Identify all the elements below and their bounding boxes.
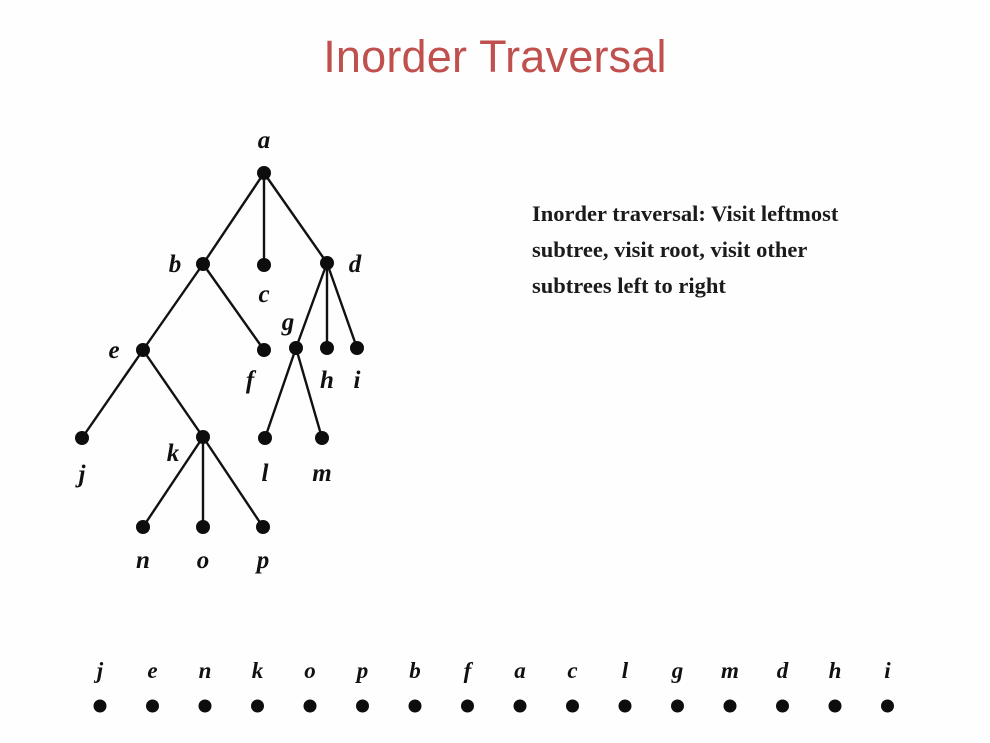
sequence-label-b: b bbox=[409, 658, 421, 683]
sequence-item-h[interactable]: h bbox=[829, 658, 842, 713]
sequence-label-h: h bbox=[829, 658, 842, 683]
sequence-item-j[interactable]: j bbox=[93, 658, 107, 713]
sequence-dot-b[interactable] bbox=[409, 700, 422, 713]
tree-node-a[interactable]: a bbox=[257, 127, 271, 180]
sequence-dot-d[interactable] bbox=[776, 700, 789, 713]
sequence-dot-e[interactable] bbox=[146, 700, 159, 713]
sequence-item-g[interactable]: g bbox=[671, 658, 684, 713]
tree-node-o[interactable]: o bbox=[196, 520, 210, 574]
tree-edge-g-m bbox=[296, 348, 322, 438]
tree-node-label-f: f bbox=[246, 367, 257, 394]
sequence-item-a[interactable]: a bbox=[514, 658, 527, 713]
tree-node-c[interactable]: c bbox=[257, 258, 271, 308]
sequence-dot-o[interactable] bbox=[304, 700, 317, 713]
tree-node-dot-k[interactable] bbox=[196, 430, 210, 444]
sequence-item-i[interactable]: i bbox=[881, 658, 894, 713]
tree-node-label-o: o bbox=[197, 547, 210, 574]
sequence-item-d[interactable]: d bbox=[776, 658, 789, 713]
sequence-label-g: g bbox=[671, 658, 684, 683]
tree-node-b[interactable]: b bbox=[169, 251, 210, 278]
sequence-label-m: m bbox=[721, 658, 739, 683]
tree-edge-a-b bbox=[203, 173, 264, 264]
sequence-label-e: e bbox=[147, 658, 157, 683]
sequence-dot-h[interactable] bbox=[829, 700, 842, 713]
sequence-item-b[interactable]: b bbox=[409, 658, 422, 713]
sequence-label-o: o bbox=[304, 658, 316, 683]
tree-node-dot-i[interactable] bbox=[350, 341, 364, 355]
tree-edge-a-d bbox=[264, 173, 327, 263]
sequence-label-p: p bbox=[355, 658, 369, 683]
sequence-item-o[interactable]: o bbox=[304, 658, 317, 713]
sequence-dot-l[interactable] bbox=[619, 700, 632, 713]
sequence-label-n: n bbox=[199, 658, 212, 683]
tree-node-label-j: j bbox=[75, 461, 87, 488]
tree-node-dot-p[interactable] bbox=[256, 520, 270, 534]
sequence-item-c[interactable]: c bbox=[566, 658, 579, 713]
sequence-dot-c[interactable] bbox=[566, 700, 579, 713]
sequence-label-j: j bbox=[93, 658, 104, 683]
tree-node-f[interactable]: f bbox=[246, 343, 271, 394]
tree-node-dot-j[interactable] bbox=[75, 431, 89, 445]
sequence-dot-m[interactable] bbox=[724, 700, 737, 713]
tree-node-dot-d[interactable] bbox=[320, 256, 334, 270]
sequence-dot-a[interactable] bbox=[514, 700, 527, 713]
tree-node-n[interactable]: n bbox=[136, 520, 150, 574]
sequence-dot-f[interactable] bbox=[461, 700, 474, 713]
tree-node-g[interactable]: g bbox=[281, 309, 303, 355]
sequence-label-k: k bbox=[252, 658, 264, 683]
sequence-item-e[interactable]: e bbox=[146, 658, 159, 713]
tree-node-label-i: i bbox=[354, 367, 361, 394]
tree-node-dot-m[interactable] bbox=[315, 431, 329, 445]
sequence-dot-p[interactable] bbox=[356, 700, 369, 713]
sequence-item-k[interactable]: k bbox=[251, 658, 264, 713]
tree-edge-k-p bbox=[203, 437, 263, 527]
tree-edge-d-g bbox=[296, 263, 327, 348]
tree-node-h[interactable]: h bbox=[320, 341, 334, 394]
sequence-dot-k[interactable] bbox=[251, 700, 264, 713]
tree-node-e[interactable]: e bbox=[108, 337, 150, 364]
tree-node-label-g: g bbox=[281, 309, 295, 336]
sequence-label-l: l bbox=[622, 658, 629, 683]
tree-edge-g-l bbox=[265, 348, 296, 438]
tree-node-i[interactable]: i bbox=[350, 341, 364, 394]
sequence-item-f[interactable]: f bbox=[461, 658, 474, 713]
tree-node-dot-n[interactable] bbox=[136, 520, 150, 534]
tree-node-dot-g[interactable] bbox=[289, 341, 303, 355]
sequence-item-p[interactable]: p bbox=[355, 658, 369, 713]
sequence-item-l[interactable]: l bbox=[619, 658, 632, 713]
sequence-item-n[interactable]: n bbox=[199, 658, 212, 713]
tree-node-label-e: e bbox=[108, 337, 119, 364]
tree-node-dot-h[interactable] bbox=[320, 341, 334, 355]
slide-canvas: Inorder Traversal Inorder traversal: Vis… bbox=[0, 0, 990, 743]
tree-node-label-m: m bbox=[312, 460, 331, 487]
tree-node-dot-e[interactable] bbox=[136, 343, 150, 357]
sequence-dot-n[interactable] bbox=[199, 700, 212, 713]
tree-node-dot-f[interactable] bbox=[257, 343, 271, 357]
sequence-dot-j[interactable] bbox=[94, 700, 107, 713]
tree-node-dot-o[interactable] bbox=[196, 520, 210, 534]
tree-node-label-c: c bbox=[258, 281, 269, 308]
sequence-label-a: a bbox=[514, 658, 526, 683]
tree-node-j[interactable]: j bbox=[75, 431, 89, 488]
tree-edge-e-k bbox=[143, 350, 203, 437]
tree-diagram: abcdefghijklmnop jenkopbfaclgmdhi bbox=[0, 0, 990, 743]
sequence-label-c: c bbox=[567, 658, 577, 683]
tree-node-label-p: p bbox=[255, 547, 270, 574]
tree-node-label-l: l bbox=[262, 460, 269, 487]
tree-node-label-k: k bbox=[167, 440, 180, 467]
sequence-label-d: d bbox=[777, 658, 789, 683]
sequence-dot-i[interactable] bbox=[881, 700, 894, 713]
sequence-label-f: f bbox=[464, 658, 474, 683]
tree-node-layer: abcdefghijklmnop bbox=[75, 127, 364, 574]
tree-node-l[interactable]: l bbox=[258, 431, 272, 487]
tree-node-label-n: n bbox=[136, 547, 150, 574]
tree-node-dot-l[interactable] bbox=[258, 431, 272, 445]
sequence-label-i: i bbox=[884, 658, 891, 683]
tree-node-label-a: a bbox=[258, 127, 271, 154]
tree-node-label-h: h bbox=[320, 367, 334, 394]
sequence-dot-g[interactable] bbox=[671, 700, 684, 713]
tree-node-label-d: d bbox=[349, 251, 362, 278]
tree-node-p[interactable]: p bbox=[255, 520, 270, 574]
tree-node-dot-c[interactable] bbox=[257, 258, 271, 272]
tree-node-label-b: b bbox=[169, 251, 182, 278]
tree-node-dot-b[interactable] bbox=[196, 257, 210, 271]
tree-node-dot-a[interactable] bbox=[257, 166, 271, 180]
tree-edge-b-f bbox=[203, 264, 264, 350]
tree-node-m[interactable]: m bbox=[312, 431, 331, 487]
sequence-item-m[interactable]: m bbox=[721, 658, 739, 713]
traversal-sequence-layer: jenkopbfaclgmdhi bbox=[93, 658, 894, 713]
